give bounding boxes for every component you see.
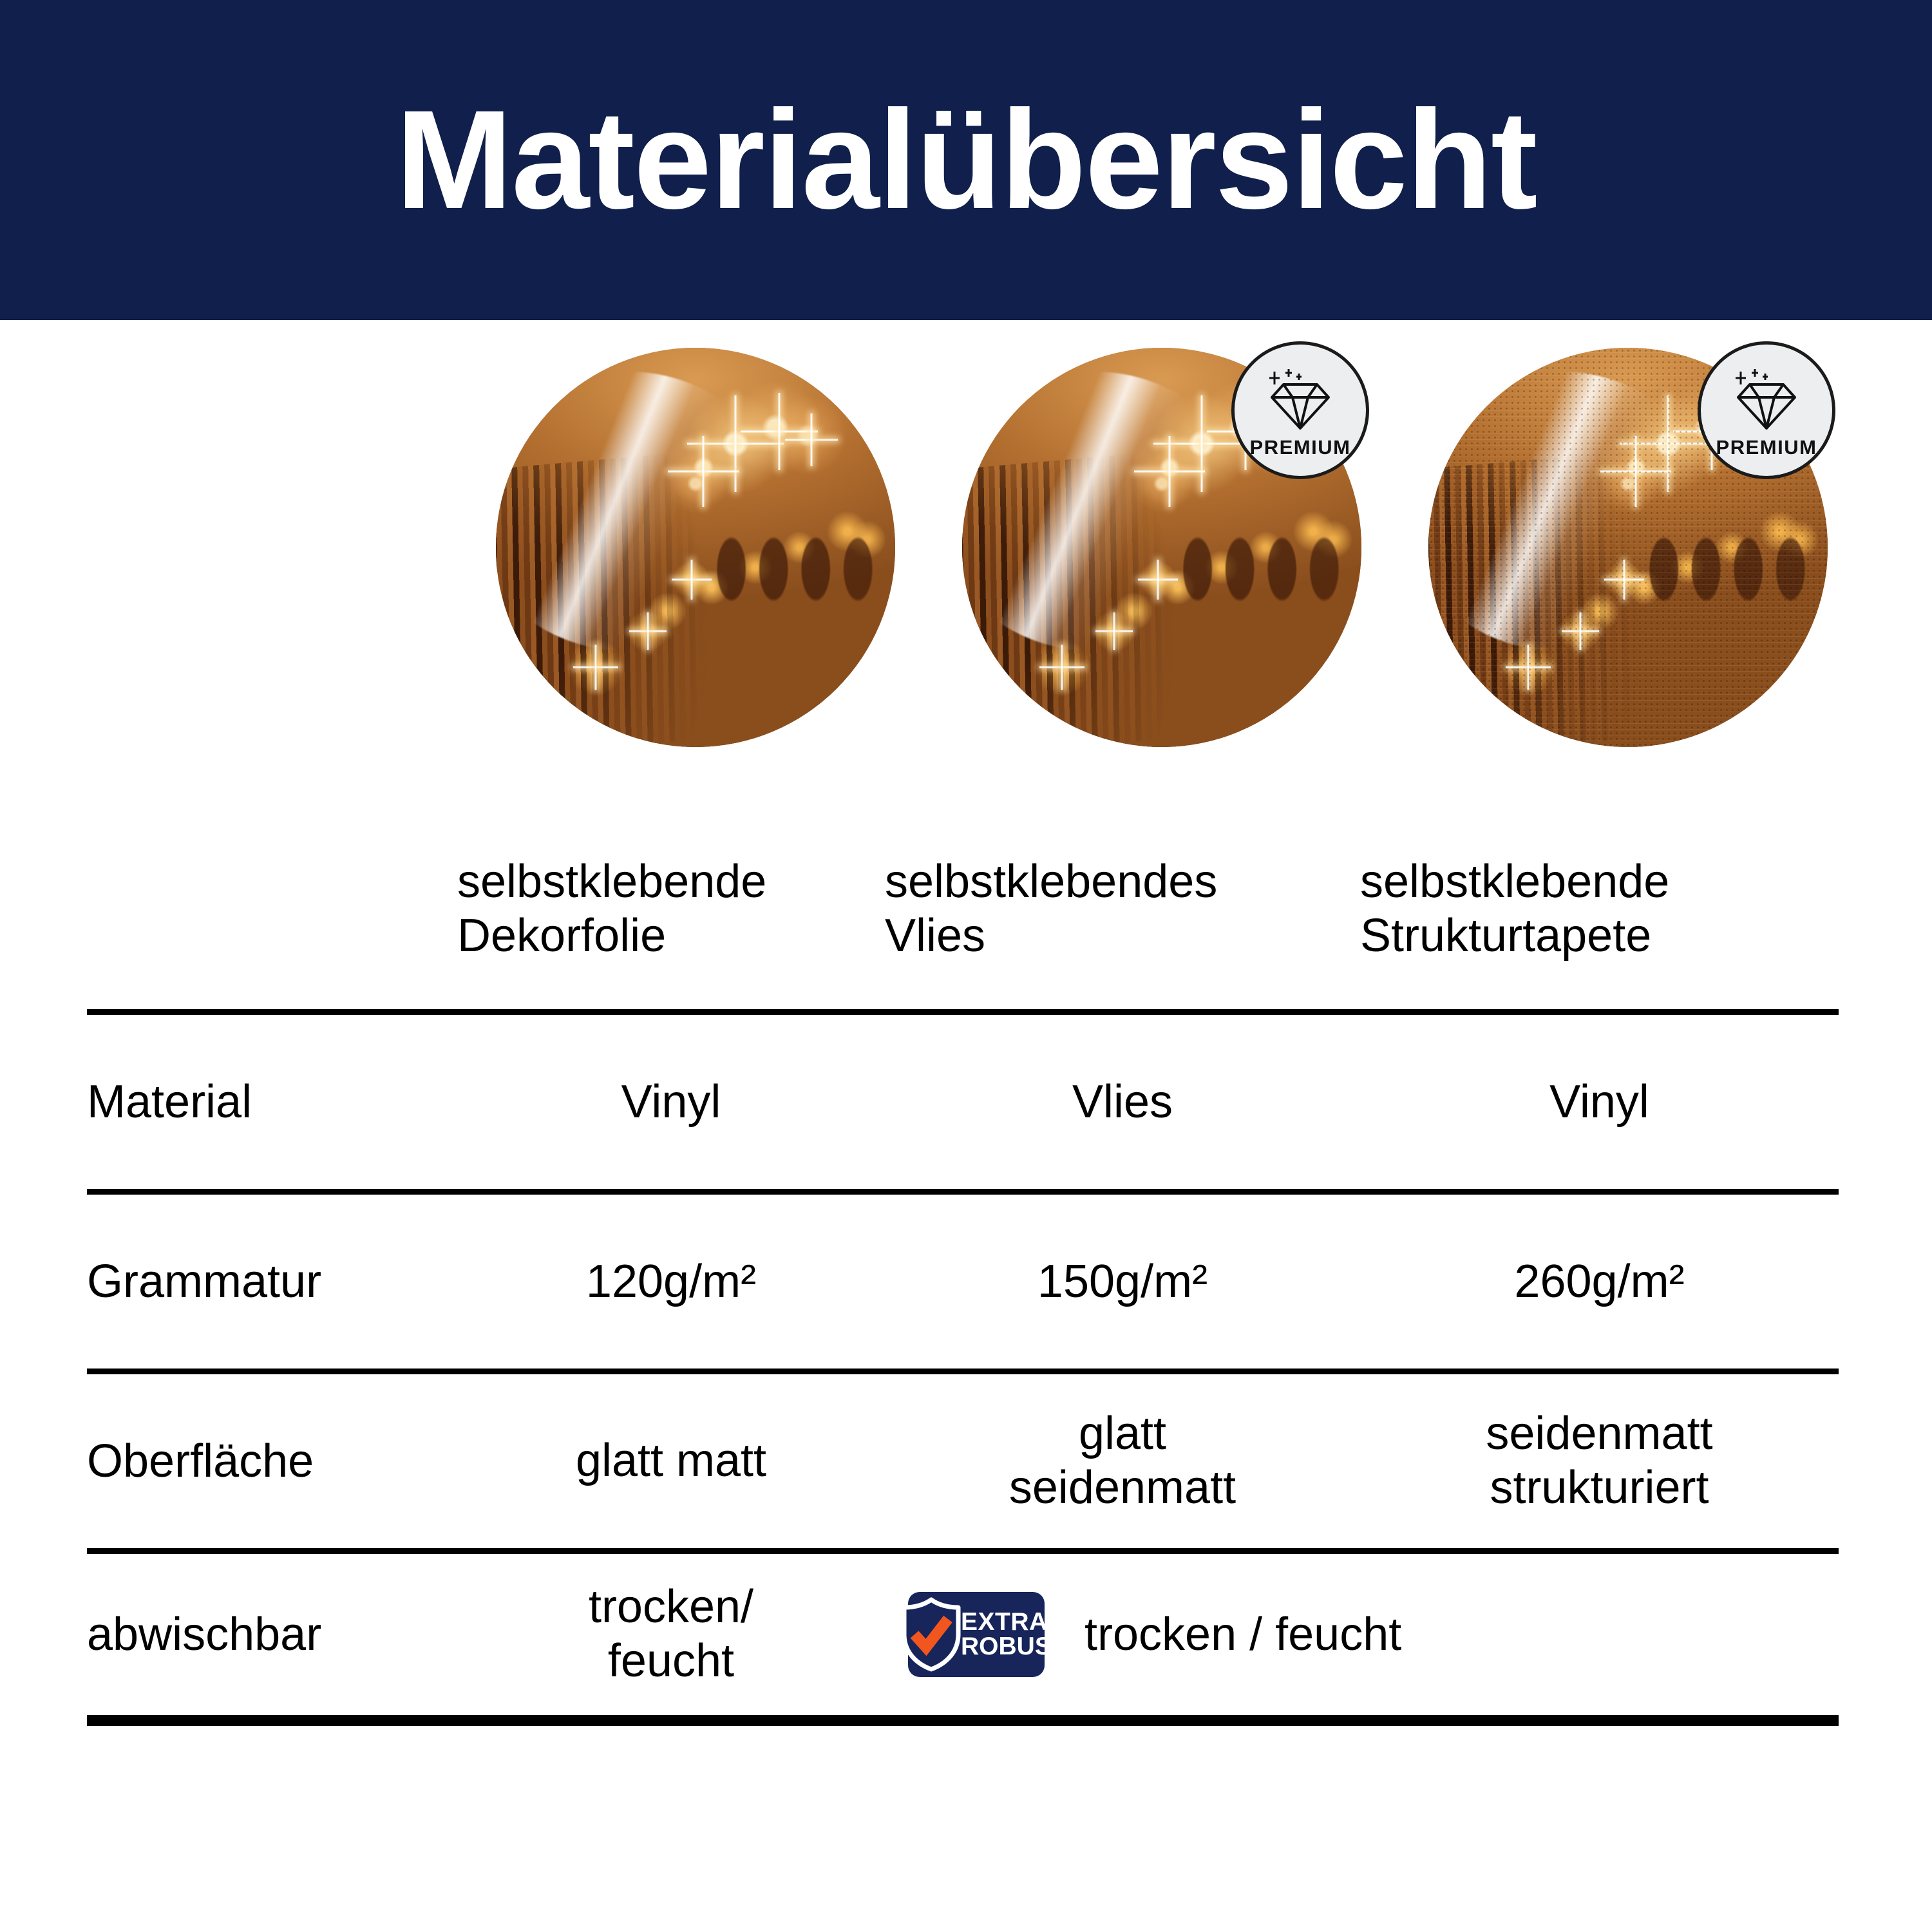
column-header-vlies: selbstklebendes Vlies — [885, 844, 1360, 1012]
table-row: Oberfläche glatt matt glatt seidenmatt s… — [87, 1372, 1839, 1551]
cell-line2: feucht — [457, 1634, 885, 1689]
extra-robust-text: EXTRA ROBUST — [961, 1610, 1067, 1659]
premium-badge: PREMIUM — [1231, 341, 1369, 479]
column-header-line1: selbstklebendes — [885, 855, 1360, 909]
header-banner: Materialübersicht — [0, 0, 1932, 320]
cell-grammatur-dekorfolie: 120g/m² — [457, 1192, 885, 1372]
table-row: Material Vinyl Vlies Vinyl — [87, 1012, 1839, 1192]
extra-robust-line2: ROBUST — [961, 1634, 1067, 1659]
cell-oberflaeche-vlies: glatt seidenmatt — [885, 1372, 1360, 1551]
extra-robust-badge: EXTRA ROBUST — [908, 1592, 1045, 1677]
row-label-oberflaeche: Oberfläche — [87, 1372, 457, 1551]
column-header-line1: selbstklebende — [457, 855, 885, 909]
cell-line1: seidenmatt — [1360, 1407, 1839, 1461]
cell-abwischbar-value: trocken / feucht — [1084, 1608, 1401, 1661]
premium-label: PREMIUM — [1250, 436, 1351, 459]
material-comparison-table: selbstklebende Dekorfolie selbstklebende… — [87, 844, 1839, 1726]
column-header-line2: Vlies — [885, 909, 1360, 963]
cell-abwischbar-merged: EXTRA ROBUST trocken / feucht — [885, 1551, 1839, 1721]
premium-badge: PREMIUM — [1698, 341, 1835, 479]
cell-line1: glatt — [885, 1407, 1360, 1461]
extra-robust-line1: EXTRA — [961, 1610, 1067, 1634]
cell-material-vlies: Vlies — [885, 1012, 1360, 1192]
cell-line1: trocken/ — [457, 1580, 885, 1634]
column-header-strukturtapete: selbstklebende Strukturtapete — [1360, 844, 1839, 1012]
row-label-abwischbar: abwischbar — [87, 1551, 457, 1721]
cell-abwischbar-dekorfolie: trocken/ feucht — [457, 1551, 885, 1721]
product-circle-dekorfolie[interactable] — [496, 348, 895, 747]
diamond-icon — [1264, 365, 1336, 432]
table-header-row: selbstklebende Dekorfolie selbstklebende… — [87, 844, 1839, 1012]
product-circle-strukturtapete[interactable]: PREMIUM — [1428, 348, 1828, 747]
cell-oberflaeche-dekorfolie: glatt matt — [457, 1372, 885, 1551]
table-row-abwischbar: abwischbar trocken/ feucht EXTRA — [87, 1551, 1839, 1721]
premium-label: PREMIUM — [1716, 436, 1817, 459]
cell-grammatur-strukturtapete: 260g/m² — [1360, 1192, 1839, 1372]
column-header-line2: Dekorfolie — [457, 909, 885, 963]
column-header-dekorfolie: selbstklebende Dekorfolie — [457, 844, 885, 1012]
wine-cellar-photo — [496, 348, 895, 747]
page-title: Materialübersicht — [395, 90, 1536, 231]
cell-grammatur-vlies: 150g/m² — [885, 1192, 1360, 1372]
row-label-grammatur: Grammatur — [87, 1192, 457, 1372]
row-label-material: Material — [87, 1012, 457, 1192]
cell-line1: glatt matt — [457, 1434, 885, 1488]
cell-line2: strukturiert — [1360, 1461, 1839, 1515]
cell-line2: seidenmatt — [885, 1461, 1360, 1515]
table-row: Grammatur 120g/m² 150g/m² 260g/m² — [87, 1192, 1839, 1372]
column-header-line2: Strukturtapete — [1360, 909, 1839, 963]
diamond-icon — [1730, 365, 1803, 432]
product-circle-vlies[interactable]: PREMIUM — [962, 348, 1361, 747]
table-corner-cell — [87, 844, 457, 1012]
cell-material-dekorfolie: Vinyl — [457, 1012, 885, 1192]
cell-oberflaeche-strukturtapete: seidenmatt strukturiert — [1360, 1372, 1839, 1551]
cell-material-strukturtapete: Vinyl — [1360, 1012, 1839, 1192]
product-image-strip: PREMIUM — [0, 348, 1932, 773]
shield-check-icon — [898, 1596, 965, 1673]
column-header-line1: selbstklebende — [1360, 855, 1839, 909]
